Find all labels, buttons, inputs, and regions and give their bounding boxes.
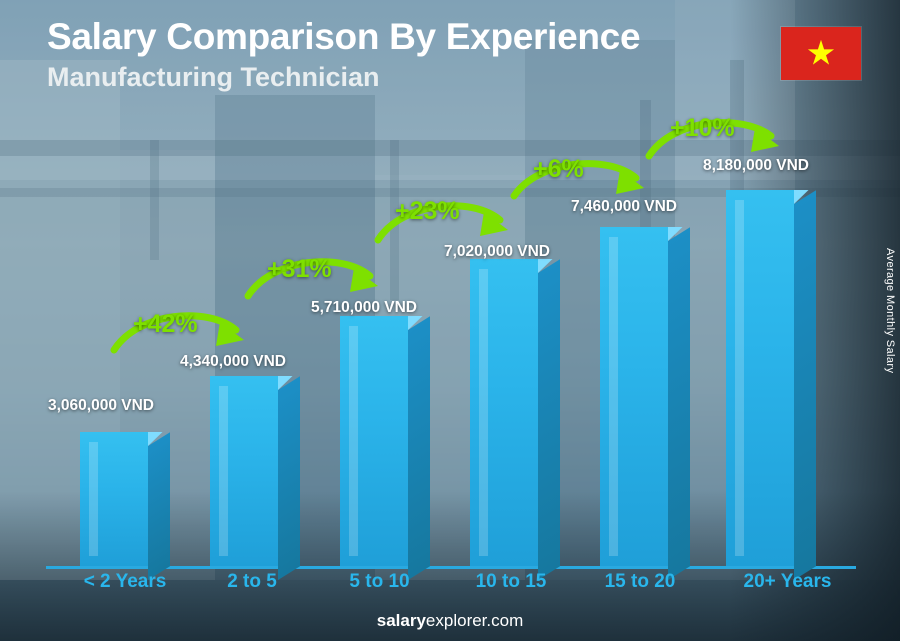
page-title: Salary Comparison By Experience bbox=[47, 16, 640, 58]
vietnam-flag-icon: ★ bbox=[781, 27, 861, 80]
bar-2-gloss bbox=[349, 326, 358, 556]
category-label-0: < 2 Years bbox=[45, 571, 205, 593]
bar-0-front bbox=[80, 432, 148, 566]
delta-label-4: +10% bbox=[670, 114, 735, 143]
flag-star-icon: ★ bbox=[806, 36, 836, 70]
bar-3-front bbox=[470, 259, 538, 566]
brand-rest: explorer bbox=[426, 611, 486, 630]
delta-label-0: +42% bbox=[133, 310, 198, 339]
bar-4-side bbox=[668, 227, 690, 580]
bar-4-gloss bbox=[609, 237, 618, 556]
bar-value-0: 3,060,000 VND bbox=[48, 397, 154, 415]
bar-1-front bbox=[210, 376, 278, 566]
bar-0-side bbox=[148, 432, 170, 580]
brand-bold: salary bbox=[377, 611, 426, 630]
chart-canvas: Salary Comparison By Experience Manufact… bbox=[0, 0, 900, 641]
bar-5-front bbox=[726, 190, 794, 566]
bar-3-side bbox=[538, 259, 560, 580]
page-subtitle: Manufacturing Technician bbox=[47, 62, 380, 93]
footer-brand: salaryexplorer.com bbox=[0, 611, 900, 631]
delta-label-3: +6% bbox=[533, 155, 584, 184]
category-label-1: 2 to 5 bbox=[182, 571, 322, 593]
brand-domain: .com bbox=[486, 611, 523, 630]
bar-0-gloss bbox=[89, 442, 98, 556]
bar-2-front bbox=[340, 316, 408, 566]
category-label-2: 5 to 10 bbox=[307, 571, 452, 593]
bar-5-side bbox=[794, 190, 816, 580]
bar-1-side bbox=[278, 376, 300, 580]
delta-label-2: +23% bbox=[395, 197, 460, 226]
category-label-5: 20+ Years bbox=[700, 571, 875, 593]
category-label-3: 10 to 15 bbox=[436, 571, 586, 593]
bar-1-gloss bbox=[219, 386, 228, 556]
bar-5-gloss bbox=[735, 200, 744, 556]
bar-3-gloss bbox=[479, 269, 488, 556]
category-label-4: 15 to 20 bbox=[565, 571, 715, 593]
bar-2-side bbox=[408, 316, 430, 580]
delta-label-1: +31% bbox=[267, 255, 332, 284]
bar-4-front bbox=[600, 227, 668, 566]
y-axis-label: Average Monthly Salary bbox=[878, 248, 896, 373]
